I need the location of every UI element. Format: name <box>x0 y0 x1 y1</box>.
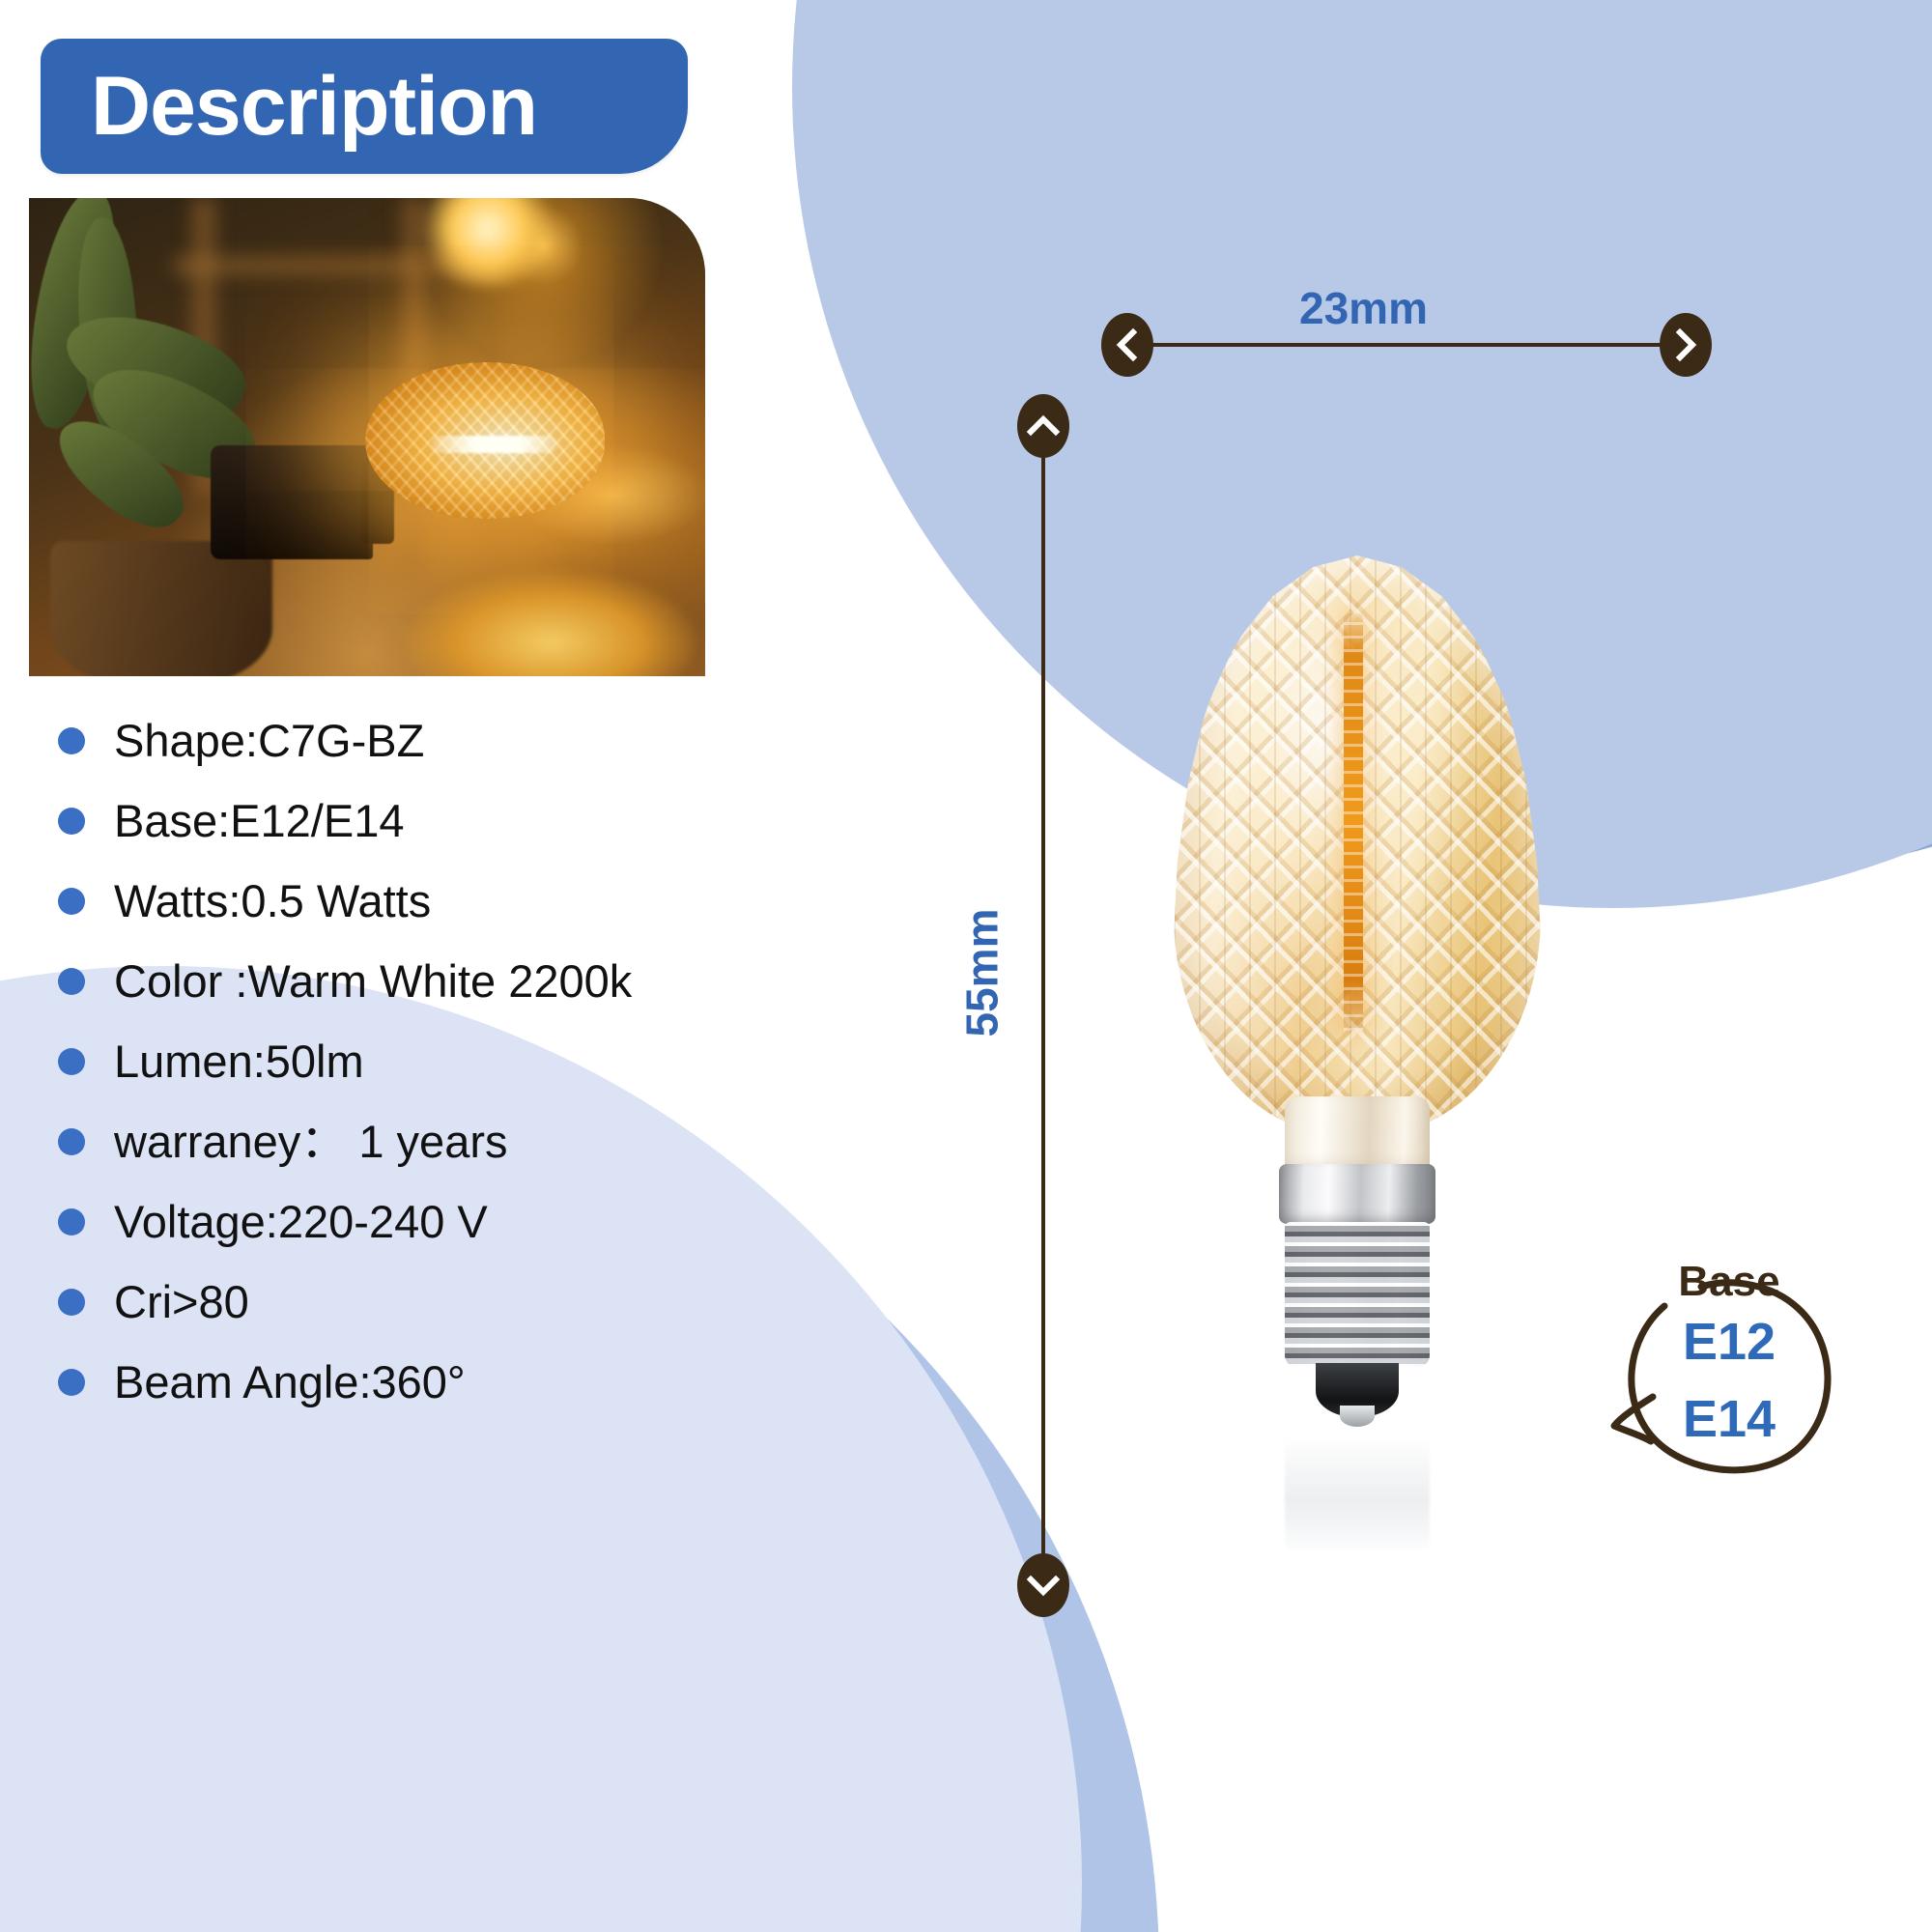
specification-list: Shape:C7G-BZ Base:E12/E14 Watts:0.5 Watt… <box>58 700 850 1422</box>
spec-label: Voltage:220-240 V <box>114 1199 488 1244</box>
bulb-glass-neck <box>1285 1096 1430 1174</box>
section-title-badge: Description <box>41 39 688 174</box>
product-bulb-image <box>1174 555 1541 1521</box>
plant-pot <box>50 541 272 676</box>
list-item: Shape:C7G-BZ <box>58 700 850 781</box>
spec-label: Base:E12/E14 <box>114 798 405 843</box>
list-item: Voltage:220-240 V <box>58 1181 850 1262</box>
list-item: warraney： 1 years <box>58 1101 850 1181</box>
chevron-left-icon <box>1101 313 1153 377</box>
bulb-screw-thread <box>1285 1222 1430 1367</box>
bullet-dot-icon <box>58 1128 85 1155</box>
bullet-dot-icon <box>58 968 85 995</box>
bullet-dot-icon <box>58 808 85 835</box>
bullet-dot-icon <box>58 1208 85 1236</box>
bulb-base-collar <box>1279 1164 1435 1224</box>
bullet-dot-icon <box>58 727 85 754</box>
callout-option-e12: E12 <box>1608 1312 1850 1372</box>
list-item: Lumen:50lm <box>58 1021 850 1101</box>
width-dimension-line <box>1125 343 1686 347</box>
list-item: Beam Angle:360° <box>58 1342 850 1422</box>
spec-label: Beam Angle:360° <box>114 1359 466 1405</box>
spec-label: Shape:C7G-BZ <box>114 718 424 763</box>
chevron-right-icon <box>1660 313 1712 377</box>
bullet-dot-icon <box>58 1369 85 1396</box>
callout-option-e14: E14 <box>1608 1389 1850 1449</box>
callout-title: Base <box>1608 1258 1850 1306</box>
bulb-filament-glow <box>432 436 556 453</box>
bullet-dot-icon <box>58 1289 85 1316</box>
infographic-page: Description Shape:C7G-BZ Base:E12/E14 <box>0 0 1932 1932</box>
list-item: Cri>80 <box>58 1262 850 1342</box>
chevron-down-icon <box>1017 1553 1069 1617</box>
bulb-reflection <box>1285 1425 1430 1550</box>
chevron-up-icon <box>1017 394 1069 458</box>
page-title: Description <box>91 65 537 148</box>
spec-label: warraney： 1 years <box>114 1119 508 1164</box>
bulb-led-filament <box>1344 613 1363 1031</box>
base-callout-bubble: Base E12 E14 <box>1608 1265 1850 1488</box>
list-item: Watts:0.5 Watts <box>58 861 850 941</box>
bullet-dot-icon <box>58 1048 85 1075</box>
spec-label: Cri>80 <box>114 1279 249 1324</box>
height-dimension-line <box>1041 425 1045 1584</box>
spec-label: Color :Warm White 2200k <box>114 958 632 1004</box>
width-dimension-label: 23mm <box>1299 282 1428 334</box>
bulb-clip-socket <box>211 445 373 559</box>
list-item: Base:E12/E14 <box>58 781 850 861</box>
list-item: Color :Warm White 2200k <box>58 941 850 1021</box>
bulb-contact-tip <box>1340 1406 1375 1427</box>
spec-label: Watts:0.5 Watts <box>114 878 431 923</box>
height-dimension-label: 55mm <box>955 909 1008 1037</box>
spec-label: Lumen:50lm <box>114 1038 364 1084</box>
bulb-glass-envelope <box>1174 555 1541 1135</box>
lifestyle-photo <box>29 198 705 676</box>
bullet-dot-icon <box>58 888 85 915</box>
lit-bulb-in-photo <box>365 362 605 519</box>
